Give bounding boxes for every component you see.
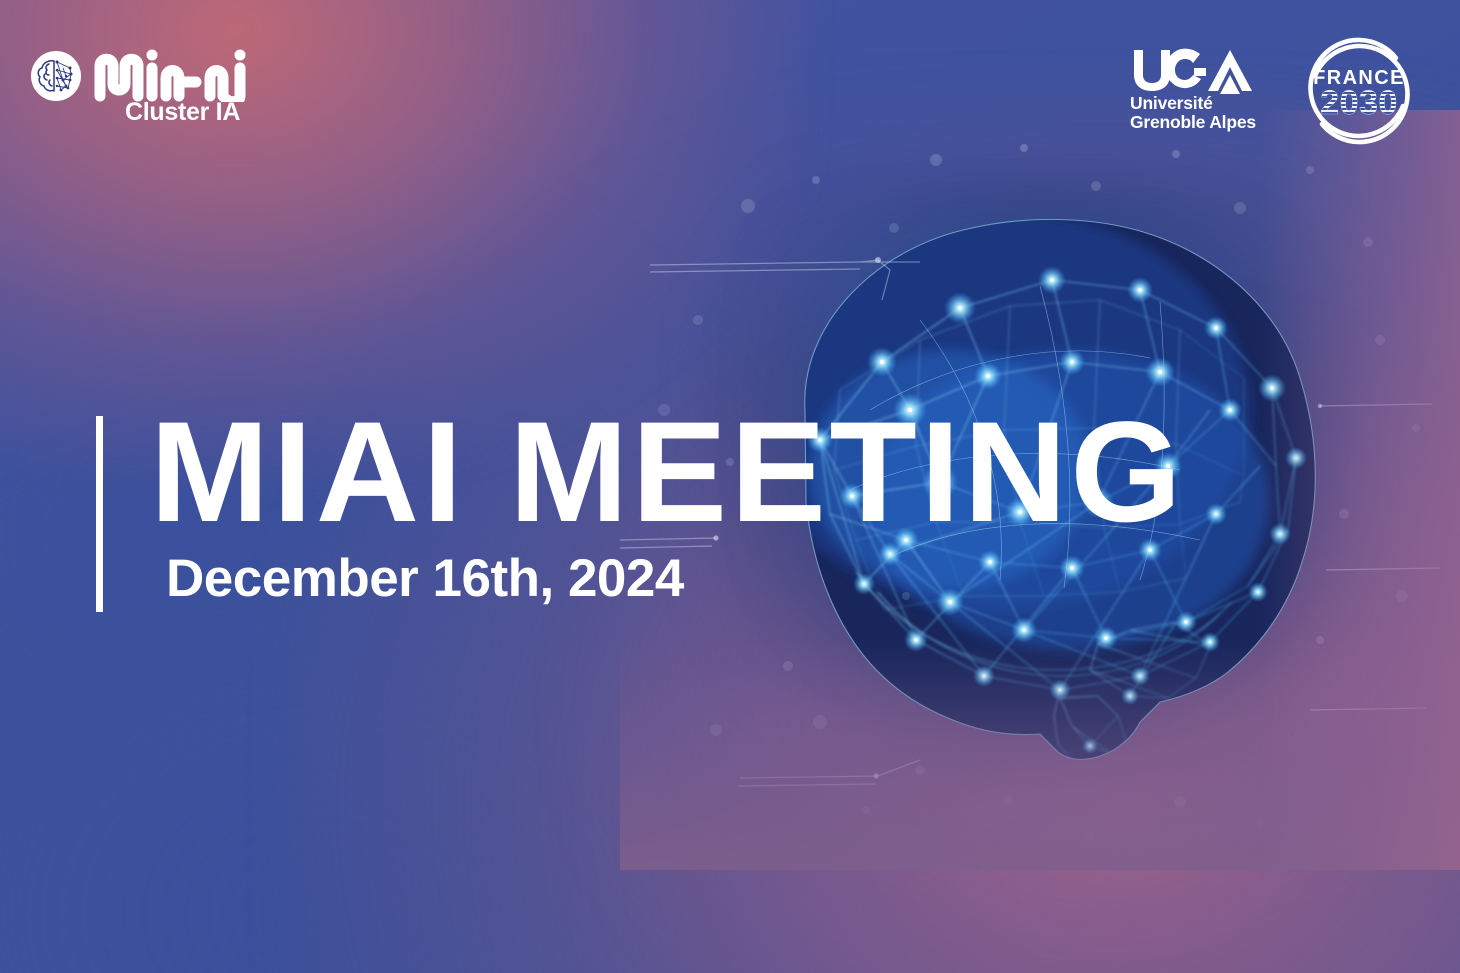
france-2030-line-2: 2030 2030 xyxy=(1320,84,1398,122)
miai-meeting-banner: Cluster IA Université Grenoble Alpes xyxy=(0,0,1460,973)
miai-tagline: Cluster IA xyxy=(125,98,240,127)
title-accent-bar xyxy=(96,416,103,612)
svg-text:2030: 2030 xyxy=(1320,84,1398,122)
page-title: MIAI MEETING xyxy=(150,398,1185,548)
miai-wordmark xyxy=(94,46,290,102)
uga-acronym-mark xyxy=(1130,48,1280,94)
uga-line-1: Université xyxy=(1130,94,1256,113)
miai-logo: Cluster IA xyxy=(30,46,290,142)
france-2030-logo: FRANCE 2030 2030 xyxy=(1298,30,1420,152)
uga-line-2: Grenoble Alpes xyxy=(1130,113,1256,132)
event-date: December 16th, 2024 xyxy=(166,548,684,610)
brain-network-icon xyxy=(30,50,82,102)
uga-logo: Université Grenoble Alpes xyxy=(1130,48,1280,140)
uga-full-name: Université Grenoble Alpes xyxy=(1130,94,1256,132)
